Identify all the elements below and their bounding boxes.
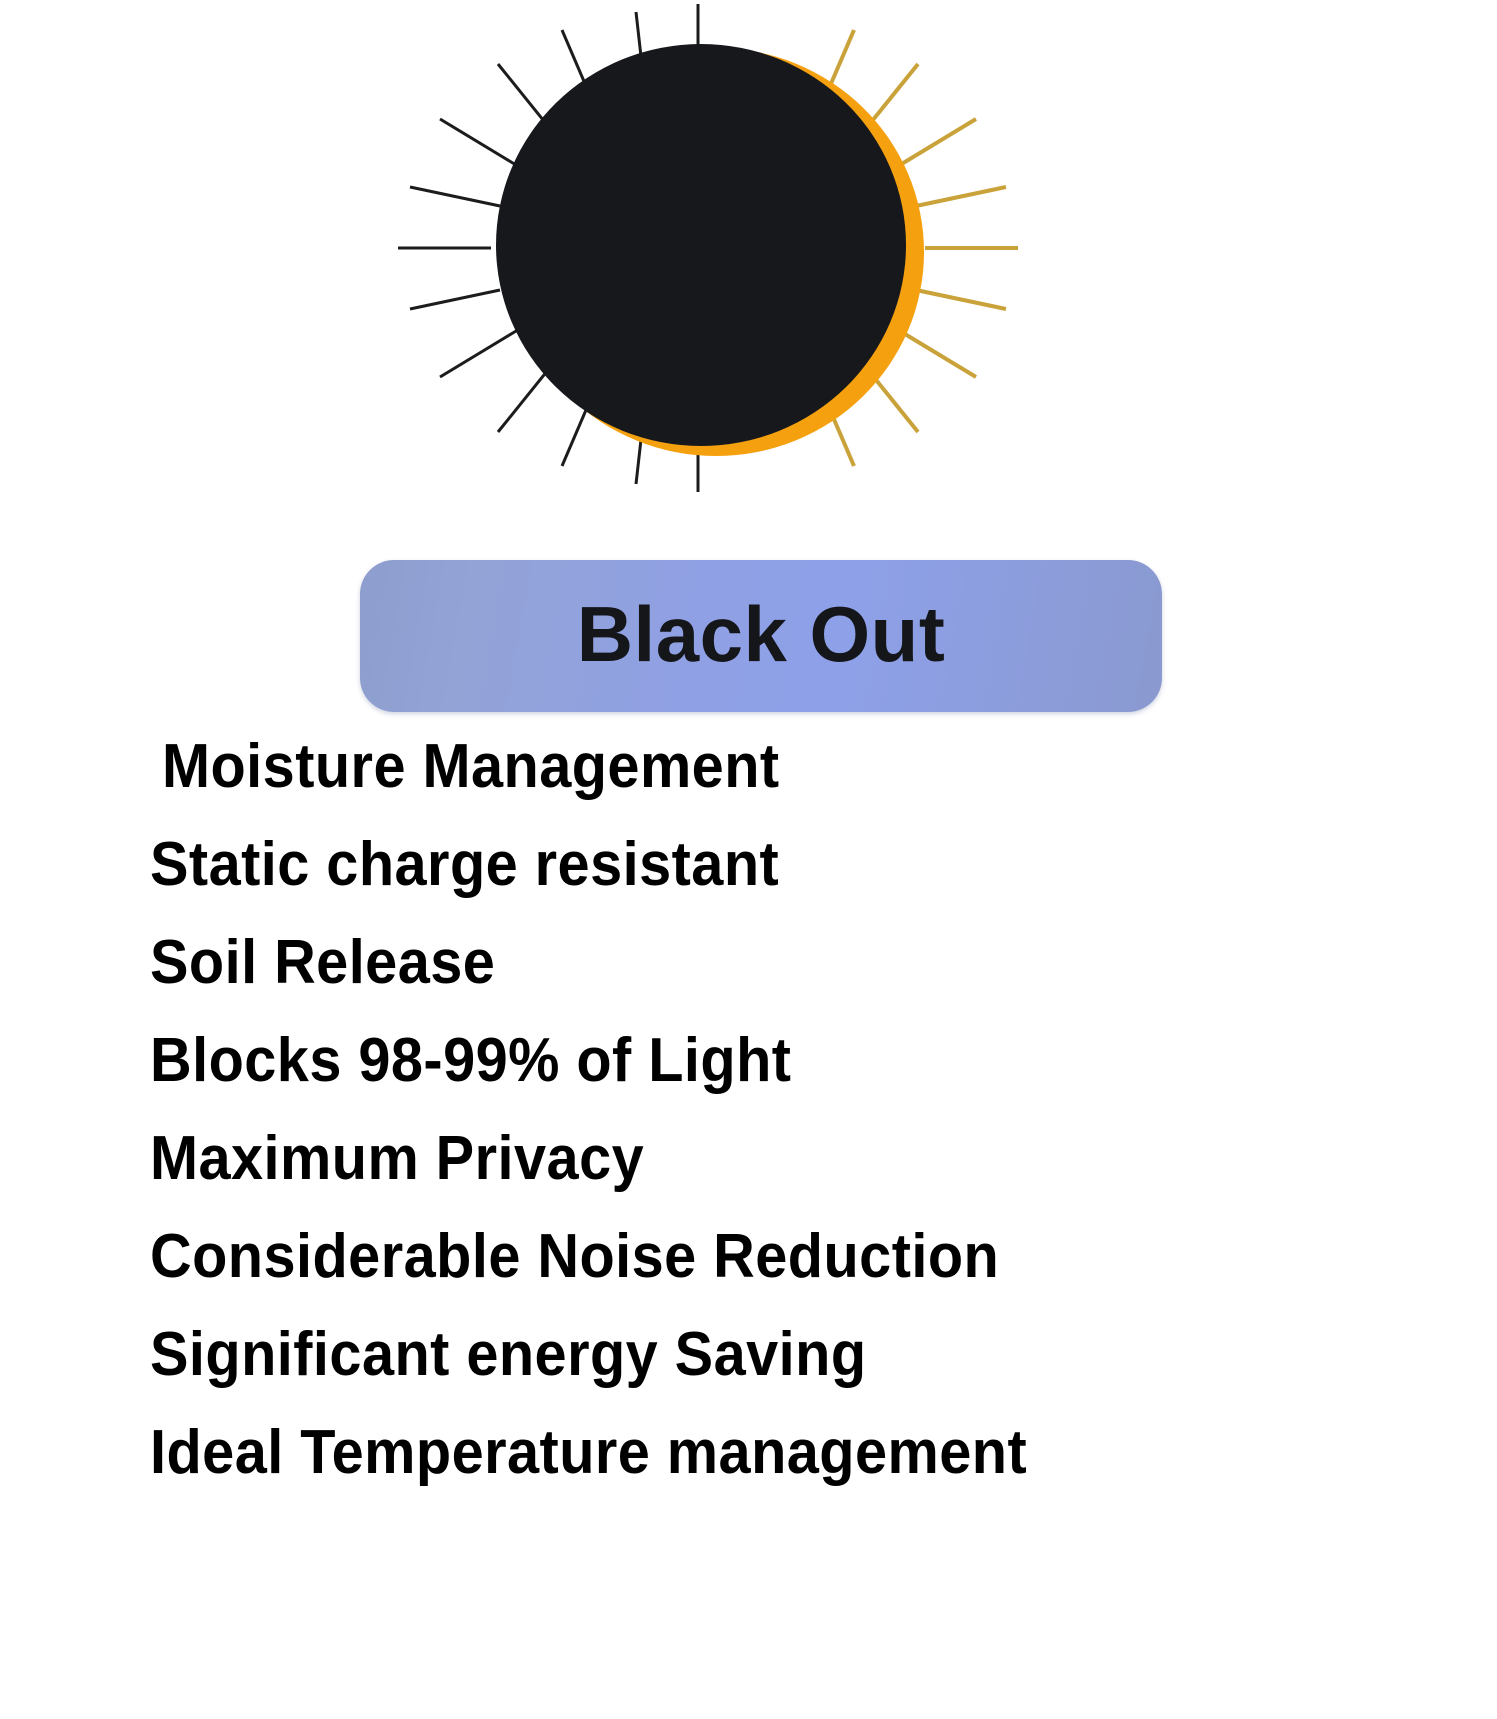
list-item: Maximum Privacy [0, 1110, 1497, 1208]
feature-label: Moisture Management [162, 736, 780, 798]
feature-label: Soil Release [150, 932, 495, 994]
feature-label: Blocks 98-99% of Light [150, 1030, 791, 1092]
feature-label: Static charge resistant [150, 834, 779, 896]
sun-ray-ese [916, 290, 1006, 309]
list-item: Blocks 98-99% of Light [0, 1012, 1497, 1110]
sun-ray-wsw [410, 290, 500, 309]
feature-label: Significant energy Saving [150, 1324, 867, 1386]
sun-ray-se [895, 328, 976, 377]
list-item: Significant energy Saving [0, 1306, 1497, 1404]
feature-label: Considerable Noise Reduction [150, 1226, 999, 1288]
list-item: Moisture Management [0, 718, 1497, 816]
sun-disc [496, 44, 906, 446]
list-item: Static charge resistant [0, 816, 1497, 914]
feature-label: Maximum Privacy [150, 1128, 644, 1190]
sun-ray-ene [916, 187, 1006, 206]
sun-ray-ne [895, 119, 976, 168]
list-item: Considerable Noise Reduction [0, 1208, 1497, 1306]
sun-ray-sw [440, 328, 521, 377]
blackout-banner-button[interactable]: Black Out [360, 560, 1162, 712]
eclipse-sun-icon [398, 0, 1018, 558]
list-item: Soil Release [0, 914, 1497, 1012]
sun-icon-block [0, 0, 1497, 500]
feature-label: Ideal Temperature management [150, 1422, 1027, 1484]
blackout-banner-label: Black Out [577, 595, 946, 673]
sun-ray-nw [440, 119, 521, 168]
feature-list: Moisture Management Static charge resist… [0, 718, 1497, 1502]
sun-ray-wnw [410, 187, 500, 206]
list-item: Ideal Temperature management [0, 1404, 1497, 1502]
